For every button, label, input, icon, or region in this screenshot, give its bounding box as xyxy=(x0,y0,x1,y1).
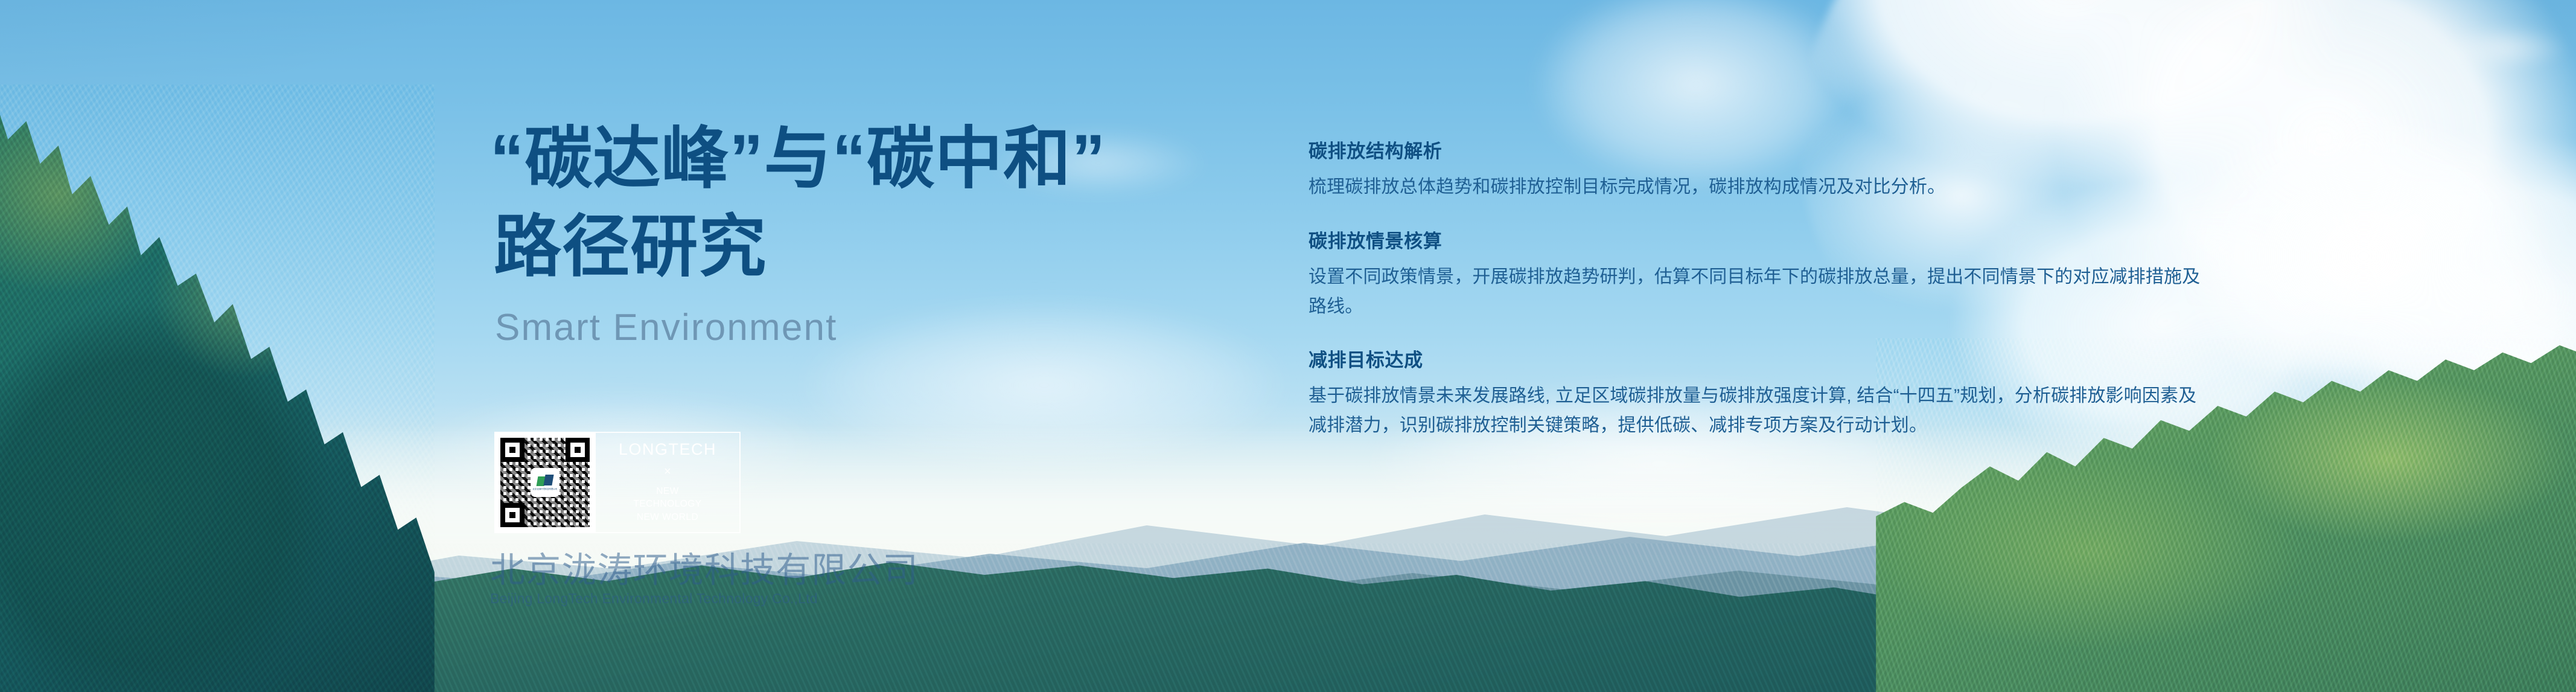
feature-item: 减排目标达成 基于碳排放情景未来发展路线, 立足区域碳排放量与碳排放强度计算, … xyxy=(1309,349,2214,440)
longtech-tagline-panel: LONGTECH × NEW TECHNOLOGY NEW WORLD xyxy=(596,432,741,533)
headline-group: “碳达峰”与“碳中和” 路径研究 Smart Environment xyxy=(490,115,1226,349)
qr-finder-bottom-left xyxy=(500,503,524,527)
feature-title: 碳排放情景核算 xyxy=(1309,230,2214,252)
promo-panel: 北京泷涛环境科技有限公司 LONGTECH × NEW TECHNOLOGY N… xyxy=(494,432,741,533)
tagline-line-2: TECHNOLOGY xyxy=(633,498,701,510)
feature-title: 减排目标达成 xyxy=(1309,349,2214,371)
logo-wordmark: 北京泷涛环境科技有限公司 xyxy=(533,488,558,490)
tagline-line-3: NEW WORLD xyxy=(633,511,701,524)
feature-body: 设置不同政策情景，开展碳排放趋势研判，估算不同目标年下的碳排放总量，提出不同情景… xyxy=(1309,263,2214,321)
qr-finder-top-left xyxy=(500,438,524,462)
logo-mark xyxy=(537,475,553,487)
feature-item: 碳排放结构解析 梳理碳排放总体趋势和碳排放控制目标完成情况，碳排放构成情况及对比… xyxy=(1309,140,2214,202)
logo-mark-blue xyxy=(543,475,553,485)
cross-icon: × xyxy=(664,466,671,478)
feature-body: 基于碳排放情景未来发展路线, 立足区域碳排放量与碳排放强度计算, 结合“十四五”… xyxy=(1309,382,2214,440)
brand-name: LONGTECH xyxy=(619,441,716,458)
longtech-logo-icon: 北京泷涛环境科技有限公司 xyxy=(532,469,558,496)
tagline: NEW TECHNOLOGY NEW WORLD xyxy=(633,485,701,524)
qr-code-icon[interactable]: 北京泷涛环境科技有限公司 xyxy=(500,438,590,527)
qr-code-card[interactable]: 北京泷涛环境科技有限公司 xyxy=(494,432,596,533)
foreground-forest-left-texture xyxy=(0,85,435,692)
page-title-line-2: 路径研究 xyxy=(490,203,1226,291)
page-subtitle: Smart Environment xyxy=(490,306,1226,349)
hero-banner: “碳达峰”与“碳中和” 路径研究 Smart Environment 北京泷涛环… xyxy=(0,0,2576,692)
feature-list: 碳排放结构解析 梳理碳排放总体趋势和碳排放控制目标完成情况，碳排放构成情况及对比… xyxy=(1309,140,2214,441)
feature-item: 碳排放情景核算 设置不同政策情景，开展碳排放趋势研判，估算不同目标年下的碳排放总… xyxy=(1309,230,2214,321)
foreground-forest-center-texture xyxy=(229,543,2117,692)
feature-title: 碳排放结构解析 xyxy=(1309,140,2214,162)
page-title-line-1: “碳达峰”与“碳中和” xyxy=(490,115,1226,203)
feature-body: 梳理碳排放总体趋势和碳排放控制目标完成情况，碳排放构成情况及对比分析。 xyxy=(1309,173,2214,202)
tagline-line-1: NEW xyxy=(633,485,701,498)
qr-finder-top-right xyxy=(566,438,590,462)
